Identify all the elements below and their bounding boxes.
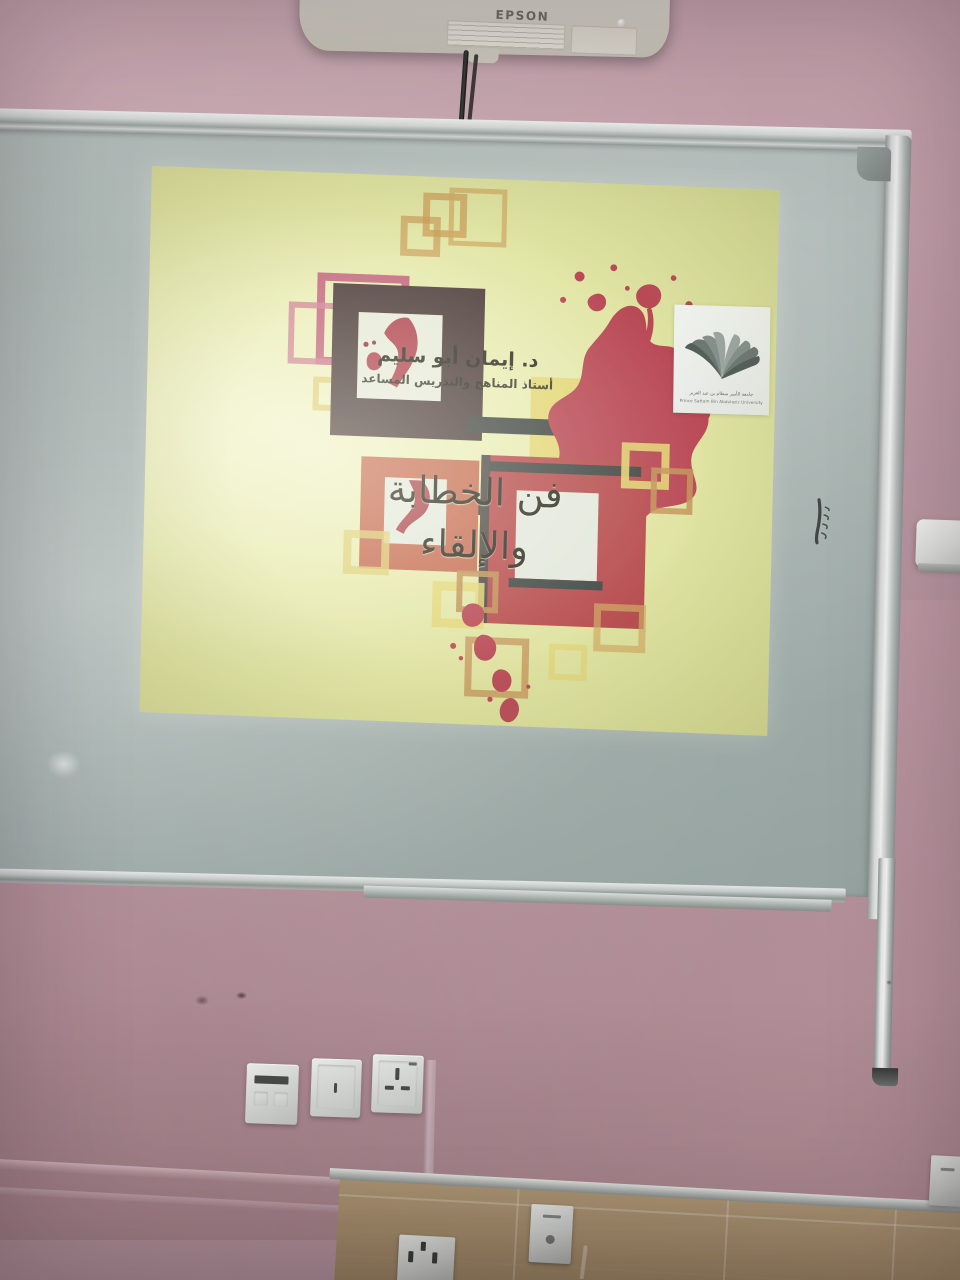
power-socket-plate[interactable] bbox=[371, 1054, 424, 1114]
projector-sticker-secondary bbox=[570, 25, 637, 56]
projected-slide: جامعة الأمير سطام بن عبد العزيز Prince S… bbox=[140, 166, 780, 736]
floor-socket-mid[interactable] bbox=[529, 1204, 574, 1264]
deco-square-gold-3 bbox=[400, 216, 441, 258]
wall-mounted-unit[interactable] bbox=[915, 519, 960, 569]
wall-scuff-mark bbox=[236, 992, 247, 999]
whiteboard-handwriting bbox=[804, 495, 835, 556]
projector-sticker bbox=[447, 20, 566, 51]
deco-square-gold-2 bbox=[448, 187, 507, 247]
deco-square-palegold-5 bbox=[343, 530, 390, 576]
whiteboard-rail-foot bbox=[872, 1068, 898, 1087]
deco-splatter-bottom bbox=[435, 597, 568, 730]
wall-mounted-unit-base bbox=[918, 563, 960, 574]
slide-title-line-2: والإلقاء bbox=[386, 516, 562, 575]
logo-caption: جامعة الأمير سطام بن عبد العزيز Prince S… bbox=[673, 391, 769, 407]
slide-author-block: د. إيمان أبو سليم أستاذ المناهج والتدريس… bbox=[361, 342, 554, 393]
whiteboard-corner-bracket bbox=[857, 147, 892, 182]
logo-caption-en: Prince Sattam Bin Abdulaziz University bbox=[673, 398, 769, 407]
slide-title: فن الخطابة والإلقاء bbox=[386, 463, 563, 575]
open-book-logo-icon bbox=[683, 327, 762, 381]
university-logo-card: جامعة الأمير سطام بن عبد العزيز Prince S… bbox=[673, 305, 770, 416]
projector-body: EPSON bbox=[299, 0, 672, 58]
projector-foot bbox=[466, 47, 499, 63]
deco-square-gold-4 bbox=[650, 467, 693, 515]
floor-socket-right[interactable] bbox=[929, 1155, 960, 1207]
slide-title-line-1: فن الخطابة bbox=[387, 463, 563, 522]
ceiling-projector: EPSON bbox=[300, 0, 680, 66]
wall-scuff-mark-right bbox=[886, 980, 892, 985]
deco-square-gold-7 bbox=[593, 603, 646, 653]
blank-switch-plate[interactable] bbox=[310, 1058, 362, 1118]
data-outlet-plate[interactable] bbox=[245, 1063, 299, 1125]
floor-socket-left[interactable] bbox=[397, 1235, 456, 1280]
classroom-photo: EPSON bbox=[0, 0, 960, 1280]
